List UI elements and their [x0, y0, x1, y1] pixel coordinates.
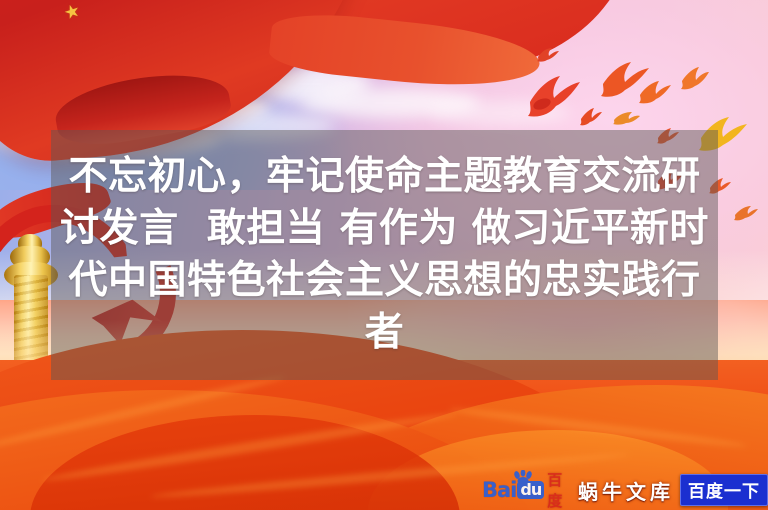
baidu-search-button[interactable]: 百度一下 — [680, 474, 768, 506]
dove-icon — [733, 203, 759, 223]
dove-icon — [635, 75, 675, 109]
poster-image: ★ ★ ★ ★ ★ — [0, 0, 768, 510]
dove-icon — [612, 110, 642, 128]
baidu-logo-cn: 百度 — [547, 469, 572, 510]
baidu-logo[interactable]: Bai du 百度 — [482, 477, 572, 503]
watermark-bar: Bai du 百度 蜗牛文库 百度一下 — [482, 474, 768, 506]
poster-title: 不忘初心，牢记使命主题教育交流研讨发言 敢担当 有作为 做习近平新时代中国特色社… — [51, 151, 718, 358]
dove-icon — [578, 105, 604, 129]
site-name-watermark: 蜗牛文库 — [578, 476, 674, 505]
baidu-logo-bai: Bai — [482, 478, 516, 502]
dove-icon — [536, 45, 560, 65]
flag-star-small-icon: ★ — [62, 0, 378, 14]
dove-icon — [678, 63, 712, 97]
title-overlay-panel: 不忘初心，牢记使命主题教育交流研讨发言 敢担当 有作为 做习近平新时代中国特色社… — [51, 130, 718, 380]
baidu-paw-icon — [513, 470, 535, 485]
